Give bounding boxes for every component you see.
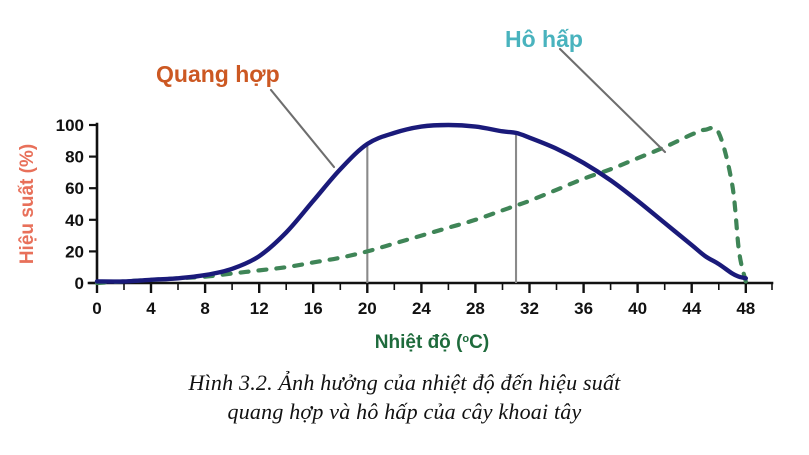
x-tick-labels: 0 4 8 12 16 20 24 28 32 36 40 44 48 xyxy=(92,299,755,318)
x-tick-label-12: 12 xyxy=(250,299,269,318)
y-tick-label-20: 20 xyxy=(65,242,84,261)
figure-caption-line-1: Hình 3.2. Ảnh hưởng của nhiệt độ đến hiệ… xyxy=(0,368,809,397)
y-tick-label-60: 60 xyxy=(65,179,84,198)
figure-container: 0 20 40 60 80 100 xyxy=(0,0,809,455)
figure-caption-line-2: quang hợp và hô hấp của cây khoai tây xyxy=(0,397,809,426)
x-tick-label-48: 48 xyxy=(736,299,755,318)
y-tick-labels: 0 20 40 60 80 100 xyxy=(56,116,84,293)
y-tick-label-100: 100 xyxy=(56,116,84,135)
reference-lines xyxy=(367,133,516,283)
y-tick-label-40: 40 xyxy=(65,211,84,230)
y-tick-label-0: 0 xyxy=(75,274,84,293)
x-axis-title-tail: C) xyxy=(469,332,489,353)
x-tick-label-40: 40 xyxy=(628,299,647,318)
y-axis-title: Hiệu suất (%) xyxy=(17,144,38,264)
x-tick-marks xyxy=(97,283,772,293)
x-axis-title: Nhiệt độ (oC) xyxy=(375,332,489,353)
respiration-curve-main xyxy=(97,128,746,283)
axis-group xyxy=(89,124,772,283)
x-tick-label-32: 32 xyxy=(520,299,539,318)
photosynthesis-leader-line xyxy=(271,90,334,167)
respiration-label: Hô hấp xyxy=(505,26,583,52)
x-tick-label-20: 20 xyxy=(358,299,377,318)
x-tick-label-8: 8 xyxy=(200,299,209,318)
x-tick-label-0: 0 xyxy=(92,299,101,318)
respiration-leader-line xyxy=(560,49,665,152)
x-tick-label-28: 28 xyxy=(466,299,485,318)
x-axis-title-main: Nhiệt độ ( xyxy=(375,332,463,353)
x-tick-label-16: 16 xyxy=(304,299,323,318)
x-tick-label-4: 4 xyxy=(146,299,156,318)
x-tick-label-36: 36 xyxy=(574,299,593,318)
figure-caption: Hình 3.2. Ảnh hưởng của nhiệt độ đến hiệ… xyxy=(0,368,809,427)
photosynthesis-label: Quang hợp xyxy=(156,61,280,87)
photosynthesis-curve xyxy=(97,125,746,282)
callout-leader-lines xyxy=(271,49,665,167)
x-tick-label-44: 44 xyxy=(682,299,701,318)
y-tick-label-80: 80 xyxy=(65,148,84,167)
x-tick-label-24: 24 xyxy=(412,299,431,318)
